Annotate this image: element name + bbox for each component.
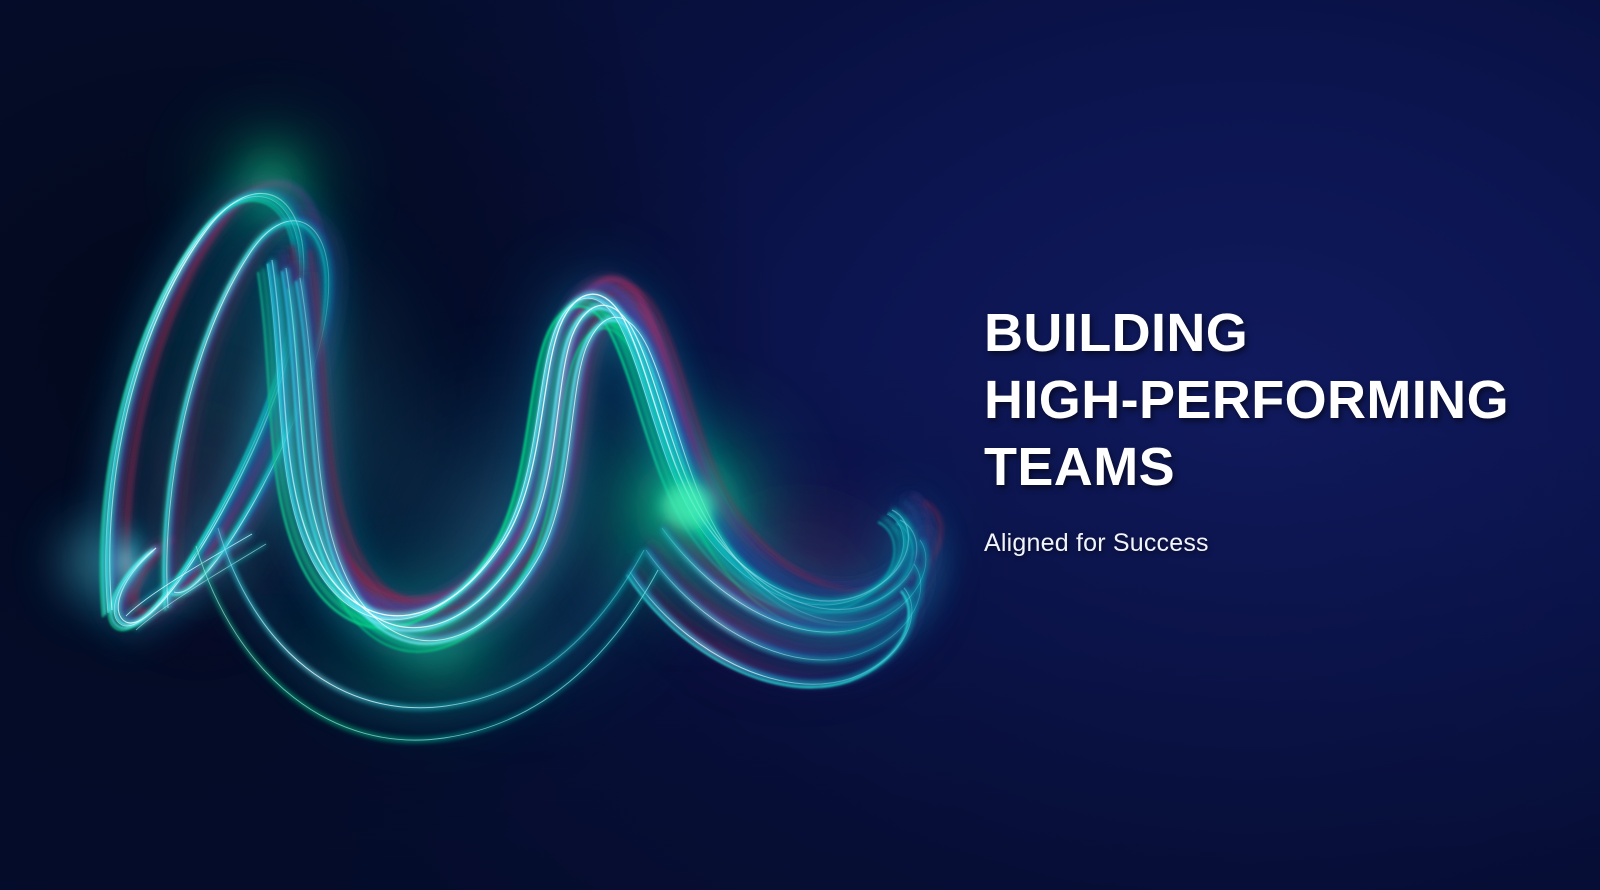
title-slide: BUILDING HIGH-PERFORMING TEAMS Aligned f… (0, 0, 1600, 890)
light-trail-artwork (40, 110, 960, 700)
page-title: BUILDING HIGH-PERFORMING TEAMS (984, 300, 1544, 501)
page-subtitle: Aligned for Success (984, 501, 1544, 559)
text-block: BUILDING HIGH-PERFORMING TEAMS Aligned f… (984, 300, 1544, 559)
